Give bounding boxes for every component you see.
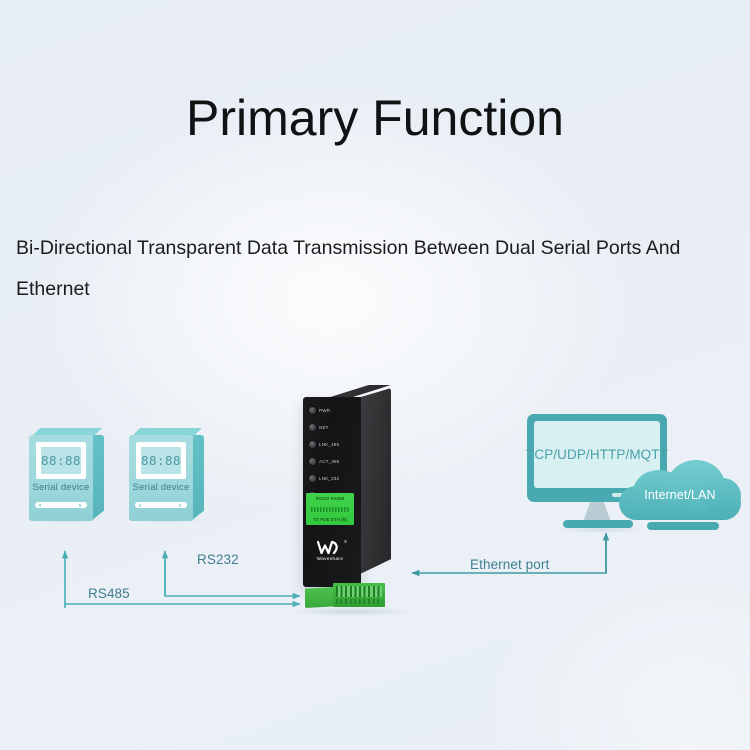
connection-diagram-lines bbox=[0, 0, 750, 750]
page-canvas: Primary Function Bi-Directional Transpar… bbox=[0, 0, 750, 750]
cloud-label: Internet/LAN bbox=[619, 488, 741, 502]
rs232-label: RS232 bbox=[197, 552, 239, 567]
ethernet-port-label: Ethernet port bbox=[470, 557, 549, 572]
rs485-label: RS485 bbox=[88, 586, 130, 601]
